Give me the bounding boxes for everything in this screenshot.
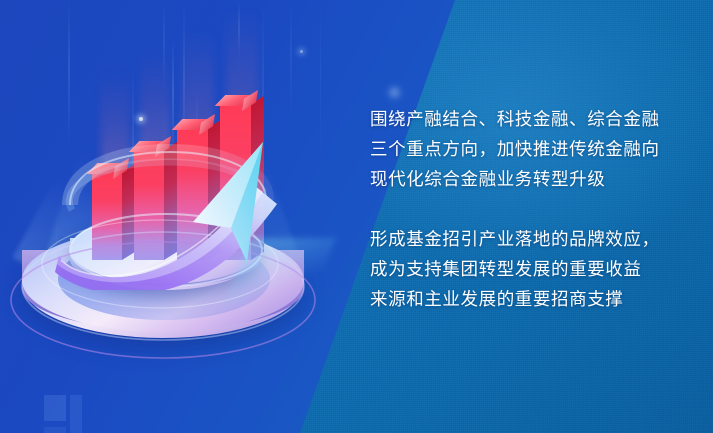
banner-stage: 围绕产融结合、科技金融、综合金融 三个重点方向，加快推进传统金融向 现代化综合金…	[0, 0, 713, 433]
paragraph-2-line-1: 形成基金招引产业落地的品牌效应，	[370, 224, 690, 254]
paragraph-2: 形成基金招引产业落地的品牌效应， 成为支持集团转型发展的重要收益 来源和主业发展…	[370, 224, 690, 314]
illustration-3d-growth-chart	[0, 0, 360, 433]
text-block: 围绕产融结合、科技金融、综合金融 三个重点方向，加快推进传统金融向 现代化综合金…	[370, 104, 690, 314]
paragraph-2-line-3: 来源和主业发展的重要招商支撑	[370, 284, 690, 314]
paragraph-1-line-1: 围绕产融结合、科技金融、综合金融	[370, 104, 690, 134]
paragraph-1: 围绕产融结合、科技金融、综合金融 三个重点方向，加快推进传统金融向 现代化综合金…	[370, 104, 690, 194]
paragraph-1-line-3: 现代化综合金融业务转型升级	[370, 164, 690, 194]
paragraph-1-line-2: 三个重点方向，加快推进传统金融向	[370, 134, 690, 164]
particle-dot	[390, 88, 399, 97]
paragraph-2-line-2: 成为支持集团转型发展的重要收益	[370, 254, 690, 284]
